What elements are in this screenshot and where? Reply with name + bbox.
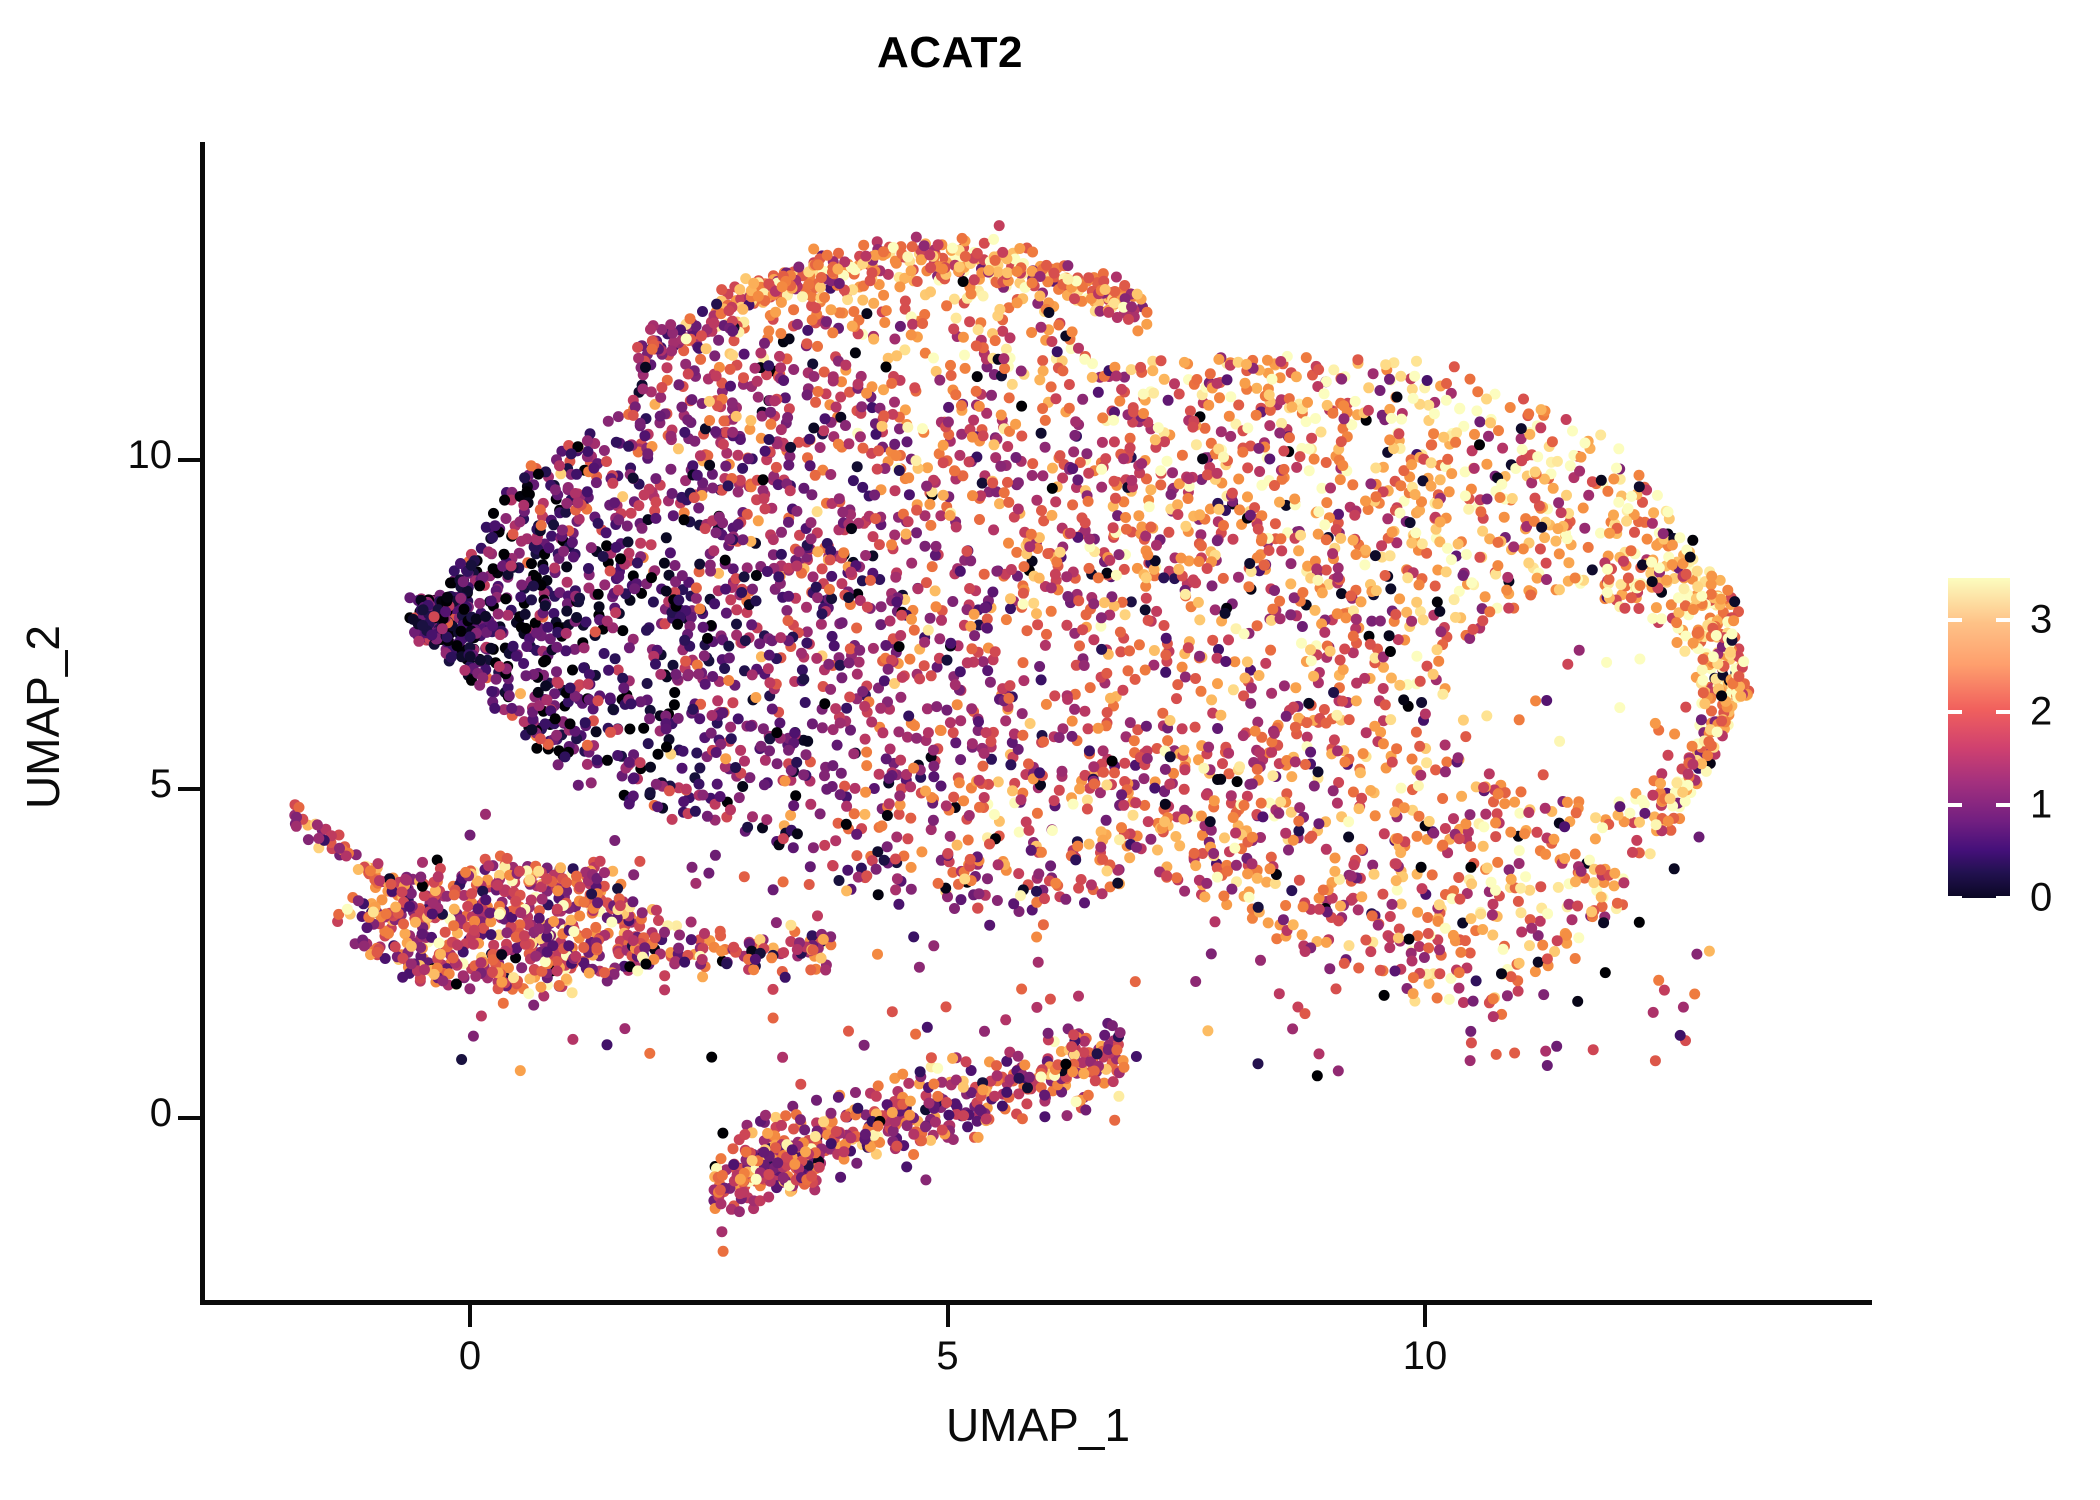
scatter-point: [1437, 689, 1448, 700]
scatter-point: [1513, 896, 1524, 907]
scatter-point: [655, 669, 666, 680]
scatter-point: [1084, 563, 1095, 574]
scatter-point: [738, 372, 749, 383]
scatter-point: [486, 596, 497, 607]
scatter-point: [1348, 535, 1359, 546]
scatter-point: [1027, 470, 1038, 481]
scatter-point: [1294, 802, 1305, 813]
scatter-point: [1339, 644, 1350, 655]
scatter-point: [884, 798, 895, 809]
scatter-point: [876, 820, 887, 831]
scatter-point: [810, 397, 821, 408]
scatter-point: [831, 402, 842, 413]
scatter-point: [1698, 654, 1709, 665]
scatter-point: [488, 508, 499, 519]
scatter-point: [772, 758, 783, 769]
scatter-point: [1477, 615, 1488, 626]
scatter-point: [1012, 266, 1023, 277]
scatter-point: [912, 276, 923, 287]
scatter-point: [1159, 374, 1170, 385]
scatter-point: [1490, 831, 1501, 842]
scatter-point: [959, 350, 970, 361]
scatter-point: [1623, 573, 1634, 584]
scatter-point: [1614, 702, 1625, 713]
scatter-point: [1553, 882, 1564, 893]
scatter-point: [617, 673, 628, 684]
scatter-point: [1027, 247, 1038, 258]
scatter-point: [801, 338, 812, 349]
scatter-point: [1661, 575, 1672, 586]
scatter-point: [870, 513, 881, 524]
scatter-point: [889, 334, 900, 345]
scatter-point: [731, 619, 742, 630]
scatter-point: [1160, 667, 1171, 678]
scatter-point: [1024, 541, 1035, 552]
scatter-point: [1251, 410, 1262, 421]
scatter-point: [612, 750, 623, 761]
scatter-point: [718, 439, 729, 450]
scatter-point: [1375, 616, 1386, 627]
scatter-point: [1324, 963, 1335, 974]
scatter-point: [1450, 612, 1461, 623]
scatter-point: [1252, 764, 1263, 775]
scatter-point: [1027, 458, 1038, 469]
scatter-point: [1386, 673, 1397, 684]
scatter-point: [1013, 504, 1024, 515]
scatter-point: [1050, 878, 1061, 889]
scatter-point: [1319, 519, 1330, 530]
scatter-point: [1711, 630, 1722, 641]
scatter-point: [605, 693, 616, 704]
scatter-point: [493, 609, 504, 620]
scatter-point: [693, 503, 704, 514]
scatter-point: [1070, 854, 1081, 865]
scatter-point: [1050, 393, 1061, 404]
scatter-point: [1145, 484, 1156, 495]
scatter-point: [437, 623, 448, 634]
scatter-point: [645, 324, 656, 335]
scatter-point: [842, 865, 853, 876]
scatter-point: [1169, 378, 1180, 389]
scatter-point: [906, 329, 917, 340]
scatter-point: [1387, 757, 1398, 768]
scatter-point: [1446, 468, 1457, 479]
scatter-point: [494, 661, 505, 672]
scatter-point: [1507, 493, 1518, 504]
scatter-point: [964, 810, 975, 821]
scatter-point: [1076, 874, 1087, 885]
scatter-point: [808, 842, 819, 853]
scatter-point: [763, 326, 774, 337]
scatter-point: [1482, 494, 1493, 505]
scatter-point: [1033, 868, 1044, 879]
scatter-point: [947, 596, 958, 607]
scatter-point: [894, 281, 905, 292]
scatter-point: [1142, 753, 1153, 764]
scatter-point: [826, 571, 837, 582]
scatter-point: [466, 560, 477, 571]
scatter-point: [679, 427, 690, 438]
scatter-point: [549, 563, 560, 574]
scatter-point: [623, 441, 634, 452]
scatter-point: [850, 783, 861, 794]
scatter-point: [825, 554, 836, 565]
scatter-point: [610, 607, 621, 618]
scatter-point: [1046, 606, 1057, 617]
scatter-point: [1121, 524, 1132, 535]
scatter-point: [1164, 779, 1175, 790]
scatter-point: [1325, 646, 1336, 657]
scatter-point: [1096, 464, 1107, 475]
scatter-point: [1069, 704, 1080, 715]
scatter-point: [931, 541, 942, 552]
scatter-point: [1096, 644, 1107, 655]
scatter-point: [1043, 307, 1054, 318]
scatter-point: [1188, 574, 1199, 585]
scatter-point: [1728, 615, 1739, 626]
scatter-point: [1140, 665, 1151, 676]
scatter-point: [445, 577, 456, 588]
scatter-point: [1290, 722, 1301, 733]
scatter-point: [583, 563, 594, 574]
scatter-point: [1562, 659, 1573, 670]
scatter-point: [1515, 883, 1526, 894]
scatter-point: [1172, 509, 1183, 520]
scatter-point: [1437, 793, 1448, 804]
scatter-point: [1680, 702, 1691, 713]
scatter-point: [672, 619, 683, 630]
scatter-point: [1196, 540, 1207, 551]
scatter-point: [858, 443, 869, 454]
scatter-point: [965, 854, 976, 865]
scatter-point: [747, 669, 758, 680]
scatter-point: [1005, 332, 1016, 343]
scatter-point: [1466, 577, 1477, 588]
scatter-point: [1627, 847, 1638, 858]
scatter-point: [800, 697, 811, 708]
scatter-point: [561, 561, 572, 572]
scatter-point: [1264, 420, 1275, 431]
scatter-point: [1426, 457, 1437, 468]
scatter-point: [760, 446, 771, 457]
scatter-point: [844, 692, 855, 703]
scatter-point: [835, 789, 846, 800]
scatter-point: [1454, 403, 1465, 414]
scatter-point: [774, 351, 785, 362]
scatter-point: [1125, 717, 1136, 728]
scatter-point: [832, 740, 843, 751]
scatter-point: [1408, 988, 1419, 999]
scatter-point: [535, 504, 546, 515]
scatter-point: [1669, 729, 1680, 740]
scatter-point: [1501, 585, 1512, 596]
scatter-point: [783, 591, 794, 602]
scatter-point: [1552, 935, 1563, 946]
scatter-point: [1202, 469, 1213, 480]
scatter-point: [1081, 609, 1092, 620]
scatter-point: [955, 754, 966, 765]
scatter-point: [924, 250, 935, 261]
scatter-point: [1082, 804, 1093, 815]
scatter-point: [989, 439, 1000, 450]
scatter-point: [1197, 453, 1208, 464]
scatter-point: [593, 695, 604, 706]
scatter-point: [526, 594, 537, 605]
scatter-point: [1410, 489, 1421, 500]
scatter-point: [1028, 598, 1039, 609]
scatter-point: [642, 678, 653, 689]
scatter-point: [801, 749, 812, 760]
scatter-point: [704, 396, 715, 407]
scatter-point: [1286, 558, 1297, 569]
scatter-point: [680, 656, 691, 667]
scatter-point: [711, 371, 722, 382]
scatter-point: [1063, 274, 1074, 285]
scatter-point: [710, 426, 721, 437]
scatter-point: [1045, 860, 1056, 871]
scatter-point: [670, 560, 681, 571]
scatter-point: [565, 683, 576, 694]
scatter-point: [1574, 645, 1585, 656]
scatter-point: [678, 746, 689, 757]
scatter-point: [1384, 630, 1395, 641]
scatter-point: [1062, 260, 1073, 271]
scatter-point: [1602, 587, 1613, 598]
scatter-point: [928, 815, 939, 826]
scatter-point: [737, 534, 748, 545]
scatter-point: [712, 779, 723, 790]
scatter-point: [1269, 480, 1280, 491]
scatter-point: [957, 233, 968, 244]
scatter-point: [1067, 731, 1078, 742]
scatter-point: [1180, 521, 1191, 532]
scatter-point: [994, 498, 1005, 509]
scatter-point: [666, 431, 677, 442]
scatter-point: [776, 297, 787, 308]
scatter-point: [931, 601, 942, 612]
scatter-point: [1148, 388, 1159, 399]
scatter-point: [941, 800, 952, 811]
scatter-point: [1151, 540, 1162, 551]
scatter-point: [1434, 899, 1445, 910]
scatter-point: [613, 514, 624, 525]
scatter-point: [791, 506, 802, 517]
scatter-point: [1220, 608, 1231, 619]
scatter-point: [809, 371, 820, 382]
scatter-point: [835, 718, 846, 729]
scatter-point: [1389, 807, 1400, 818]
scatter-point: [1330, 853, 1341, 864]
scatter-point: [1395, 847, 1406, 858]
scatter-point: [810, 302, 821, 313]
scatter-point: [1332, 745, 1343, 756]
scatter-point: [1430, 581, 1441, 592]
scatter-point: [661, 532, 672, 543]
scatter-point: [902, 251, 913, 262]
scatter-point: [845, 567, 856, 578]
scatter-point: [1493, 789, 1504, 800]
scatter-point: [1385, 646, 1396, 657]
scatter-point: [813, 386, 824, 397]
scatter-point: [1036, 674, 1047, 685]
scatter-point: [667, 488, 678, 499]
scatter-point: [1114, 834, 1125, 845]
scatter-point: [1541, 558, 1552, 569]
scatter-point: [1084, 534, 1095, 545]
scatter-point: [1065, 528, 1076, 539]
scatter-point: [954, 450, 965, 461]
scatter-point: [1026, 327, 1037, 338]
scatter-point: [700, 523, 711, 534]
scatter-point: [811, 653, 822, 664]
scatter-point: [1328, 785, 1339, 796]
scatter-point: [752, 376, 763, 387]
scatter-point: [812, 506, 823, 517]
scatter-point: [583, 583, 594, 594]
scatter-point: [1635, 580, 1646, 591]
scatter-point: [1319, 627, 1330, 638]
scatter-point: [1395, 508, 1406, 519]
scatter-point: [917, 318, 928, 329]
scatter-point: [834, 875, 845, 886]
scatter-point: [792, 319, 803, 330]
scatter-point: [790, 790, 801, 801]
scatter-point: [655, 411, 666, 422]
scatter-point: [1098, 745, 1109, 756]
scatter-point: [656, 382, 667, 393]
scatter-point: [1338, 664, 1349, 675]
scatter-point: [1348, 859, 1359, 870]
scatter-point: [928, 771, 939, 782]
scatter-point: [1692, 566, 1703, 577]
scatter-point: [673, 595, 684, 606]
scatter-point: [711, 747, 722, 758]
scatter-point: [1716, 716, 1727, 727]
scatter-point: [1040, 442, 1051, 453]
scatter-point: [632, 342, 643, 353]
scatter-point: [1428, 669, 1439, 680]
scatter-point: [1336, 374, 1347, 385]
scatter-point: [699, 650, 710, 661]
scatter-point: [639, 490, 650, 501]
scatter-point: [917, 423, 928, 434]
scatter-point: [1046, 582, 1057, 593]
scatter-point: [1297, 587, 1308, 598]
scatter-point: [1179, 886, 1190, 897]
scatter-point: [828, 371, 839, 382]
scatter-point: [1413, 780, 1424, 791]
scatter-point: [1716, 690, 1727, 701]
scatter-point: [426, 630, 437, 641]
scatter-point: [895, 630, 906, 641]
scatter-point: [1437, 840, 1448, 851]
scatter-point: [580, 717, 591, 728]
scatter-point: [1449, 594, 1460, 605]
scatter-point: [1077, 624, 1088, 635]
scatter-point: [962, 657, 973, 668]
scatter-point: [1343, 832, 1354, 843]
scatter-point: [1142, 307, 1153, 318]
scatter-point: [567, 665, 578, 676]
scatter-point: [1296, 638, 1307, 649]
scatter-point: [1611, 463, 1622, 474]
scatter-point: [906, 884, 917, 895]
scatter-point: [691, 593, 702, 604]
scatter-point: [1495, 492, 1506, 503]
scatter-point: [1147, 365, 1158, 376]
scatter-point: [646, 572, 657, 583]
scatter-point: [1484, 768, 1495, 779]
scatter-point: [1482, 863, 1493, 874]
scatter-point: [637, 384, 648, 395]
scatter-point: [803, 279, 814, 290]
scatter-point: [788, 304, 799, 315]
scatter-point: [1083, 723, 1094, 734]
scatter-point: [1064, 379, 1075, 390]
scatter-point: [1441, 378, 1452, 389]
scatter-point: [938, 490, 949, 501]
scatter-point: [1160, 650, 1171, 661]
scatter-point: [1176, 553, 1187, 564]
scatter-point: [1135, 362, 1146, 373]
scatter-point: [673, 443, 684, 454]
scatter-point: [909, 625, 920, 636]
scatter-point: [1088, 598, 1099, 609]
scatter-point: [1276, 545, 1287, 556]
scatter-point: [1116, 822, 1127, 833]
scatter-point: [1108, 415, 1119, 426]
scatter-point: [785, 442, 796, 453]
scatter-point: [788, 800, 799, 811]
scatter-point: [859, 809, 870, 820]
scatter-point: [613, 411, 624, 422]
scatter-point: [861, 870, 872, 881]
scatter-point: [1167, 467, 1178, 478]
scatter-point: [661, 742, 672, 753]
scatter-point: [1487, 930, 1498, 941]
scatter-point: [1166, 489, 1177, 500]
scatter-point: [1274, 497, 1285, 508]
scatter-point: [506, 560, 517, 571]
scatter-point: [836, 768, 847, 779]
scatter-point: [1345, 590, 1356, 601]
scatter-point: [679, 635, 690, 646]
scatter-point: [1052, 346, 1063, 357]
scatter-point: [583, 679, 594, 690]
scatter-point: [1007, 379, 1018, 390]
scatter-point: [1343, 816, 1354, 827]
scatter-point: [843, 592, 854, 603]
scatter-point: [1287, 402, 1298, 413]
scatter-point: [1240, 378, 1251, 389]
scatter-point: [1278, 914, 1289, 925]
scatter-point: [1133, 510, 1144, 521]
scatter-point: [1352, 354, 1363, 365]
scatter-point: [966, 643, 977, 654]
scatter-point: [1331, 710, 1342, 721]
scatter-point: [1237, 447, 1248, 458]
scatter-point: [938, 457, 949, 468]
scatter-point: [736, 587, 747, 598]
scatter-point: [967, 490, 978, 501]
scatter-point: [1096, 612, 1107, 623]
scatter-point: [720, 753, 731, 764]
scatter-point: [974, 888, 985, 899]
scatter-point: [1037, 470, 1048, 481]
scatter-point: [922, 703, 933, 714]
scatter-point: [1663, 506, 1674, 517]
scatter-point: [801, 602, 812, 613]
